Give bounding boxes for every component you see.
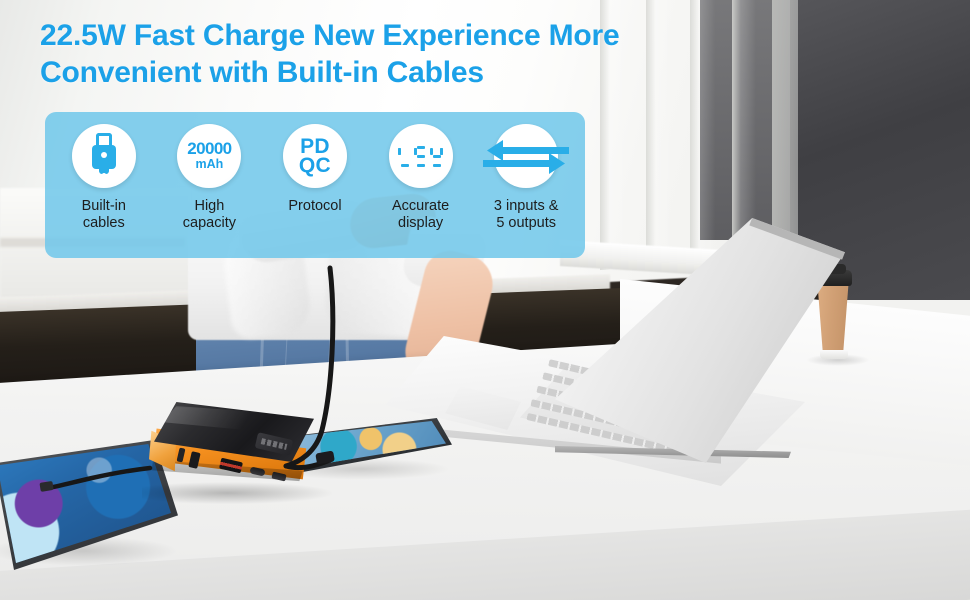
badge-protocol: PD QC — [283, 124, 347, 188]
seg-char-D — [430, 146, 443, 167]
seg-char-L — [398, 146, 411, 167]
capacity-value: 20000 — [187, 140, 231, 157]
badge-high-capacity: 20000 mAh — [177, 124, 241, 188]
seg-char-E — [414, 146, 427, 167]
power-bank-shadow — [142, 482, 332, 504]
headline-line-1: 22.5W Fast Charge New Experience More — [40, 19, 619, 52]
feature-label: Protocol — [288, 198, 341, 215]
headline-line-2: Convenient with Built-in Cables — [40, 55, 820, 92]
feature-built-in-cables: Built-in cables — [51, 124, 157, 233]
silver-laptop — [405, 218, 925, 518]
product-banner: 22.5W Fast Charge New Experience More Co… — [0, 0, 970, 600]
badge-built-in-cables — [72, 124, 136, 188]
badge-inputs-outputs — [494, 124, 558, 188]
bidirectional-arrows-icon — [483, 137, 569, 177]
feature-label: High capacity — [183, 198, 236, 233]
badge-accurate-display — [389, 124, 453, 188]
protocol-qc: QC — [299, 154, 331, 177]
feature-protocol: PD QC Protocol — [262, 124, 368, 215]
feature-label: Accurate display — [392, 198, 449, 233]
capacity-text-icon: 20000 mAh — [187, 140, 231, 173]
feature-accurate-display: Accurate display — [368, 124, 474, 233]
feature-label: 3 inputs & 5 outputs — [494, 198, 559, 233]
protocol-text-icon: PD QC — [299, 137, 331, 176]
feature-high-capacity: 20000 mAh High capacity — [157, 124, 263, 233]
led-display-icon — [398, 146, 443, 167]
page-title: 22.5W Fast Charge New Experience More Co… — [40, 18, 820, 91]
orange-black-power-bank — [138, 400, 328, 510]
capacity-unit: mAh — [196, 157, 224, 173]
feature-label: Built-in cables — [82, 198, 126, 233]
feature-inputs-outputs: 3 inputs & 5 outputs — [473, 124, 579, 233]
feature-panel: Built-in cables 20000 mAh High capacity … — [45, 112, 585, 258]
usb-plug-icon — [89, 133, 119, 179]
